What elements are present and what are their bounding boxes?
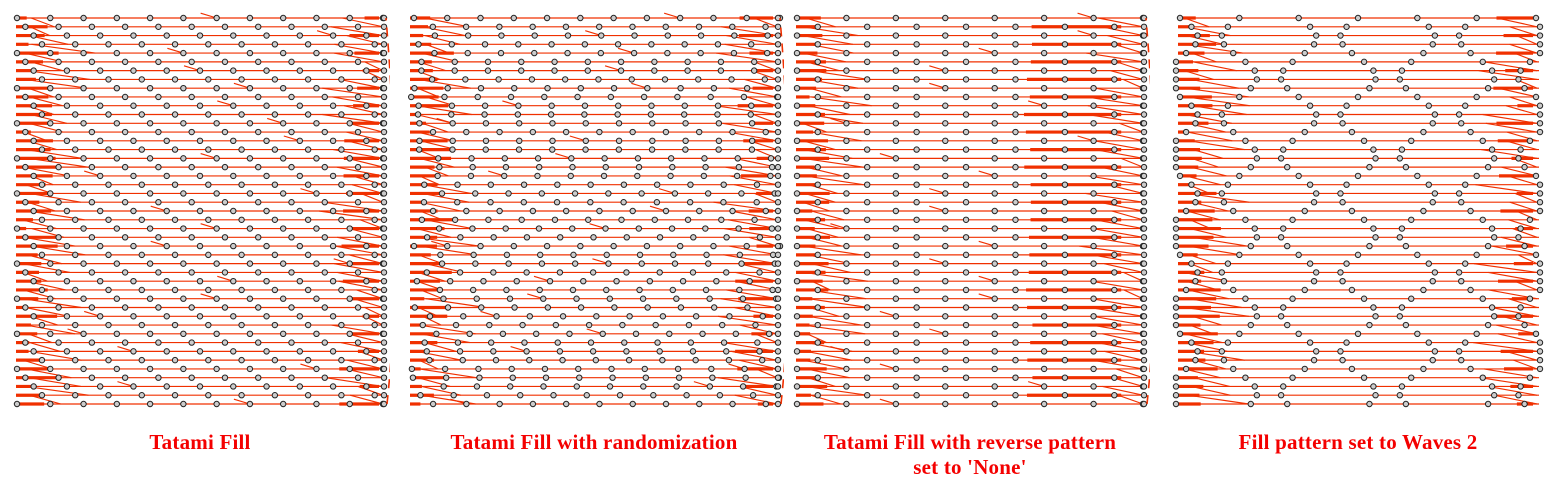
fill-pattern-panels (0, 0, 1558, 420)
fill-panel (1172, 0, 1558, 420)
stitch-canvas (1172, 0, 1544, 420)
caption-line: Fill pattern set to Waves 2 (1166, 430, 1550, 455)
panel-caption: Fill pattern set to Waves 2 (1166, 430, 1550, 455)
stitch-canvas (10, 0, 390, 420)
caption-line: Tatami Fill with randomization (398, 430, 790, 455)
stitch-canvas (404, 0, 784, 420)
panel-captions: Tatami Fill Tatami Fill with randomizati… (0, 430, 1558, 500)
panel-caption: Tatami Fill with randomization (398, 430, 790, 455)
fill-panel (10, 0, 400, 420)
figure-root: Tatami Fill Tatami Fill with randomizati… (0, 0, 1558, 500)
panel-caption: Tatami Fill with reverse patternset to '… (784, 430, 1156, 480)
caption-line: set to 'None' (784, 455, 1156, 480)
panel-caption: Tatami Fill (4, 430, 396, 455)
caption-line: Tatami Fill (4, 430, 396, 455)
caption-line: Tatami Fill with reverse pattern (784, 430, 1156, 455)
fill-panel (404, 0, 794, 420)
fill-panel (790, 0, 1180, 420)
stitch-canvas (790, 0, 1150, 420)
